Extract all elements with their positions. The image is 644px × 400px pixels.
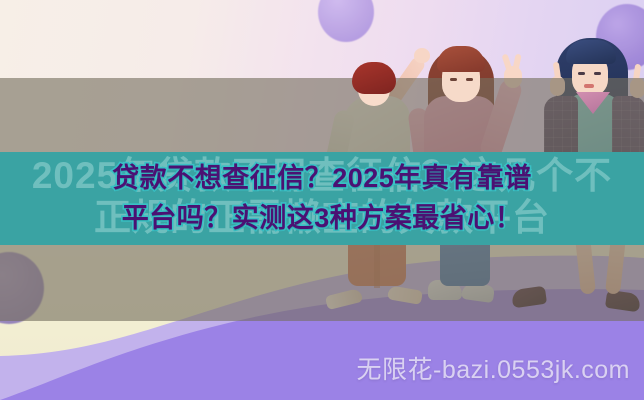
gray-overlay-band-bottom bbox=[0, 245, 644, 321]
eye bbox=[450, 78, 457, 81]
bangs bbox=[437, 46, 485, 72]
headline-line-1: 贷款不想查征信？2025年真有靠谱 bbox=[112, 163, 532, 193]
eye bbox=[466, 78, 473, 81]
eye bbox=[594, 72, 601, 75]
gray-overlay-band-top bbox=[0, 78, 644, 152]
mouth bbox=[584, 84, 594, 88]
bangs bbox=[566, 40, 616, 64]
cover-image: 2025年贷款不用查征信？这几个不正规的正需懒查的欠款平台 贷款不想查征信？20… bbox=[0, 0, 644, 400]
headline-title: 贷款不想查征信？2025年真有靠谱平台吗？实测这3种方案最省心！ bbox=[0, 158, 644, 238]
pointing-hand bbox=[414, 48, 430, 63]
eye bbox=[578, 72, 585, 75]
headline-line-2: 平台吗？实测这3种方案最省心！ bbox=[122, 203, 523, 233]
hair bbox=[352, 62, 396, 94]
